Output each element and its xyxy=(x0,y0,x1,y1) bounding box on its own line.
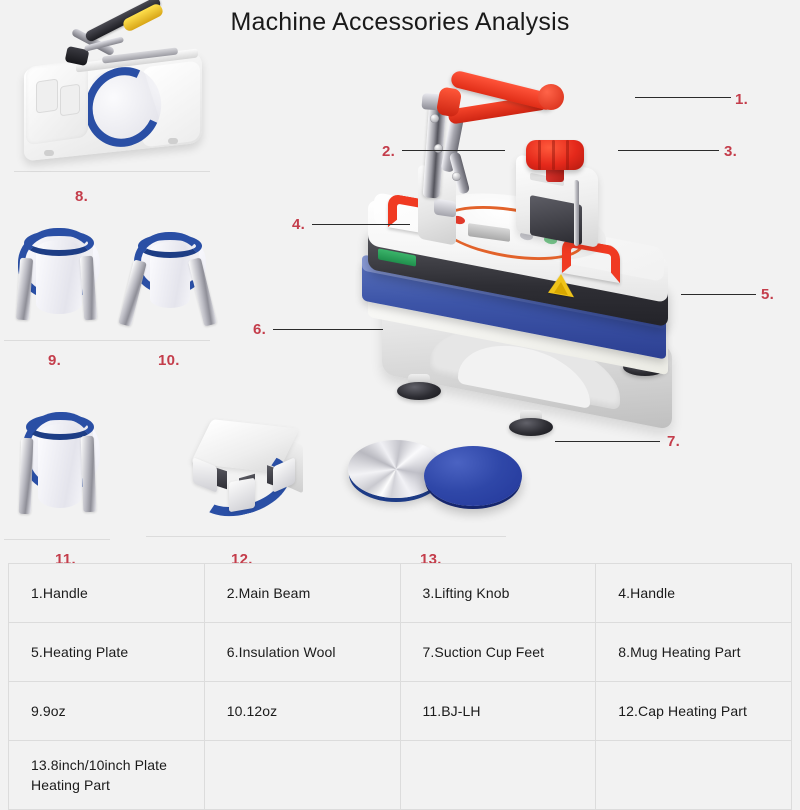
callout-label-10: 10. xyxy=(158,352,180,369)
cell-3-lifting-knob: 3.Lifting Knob xyxy=(400,564,596,623)
table-row: 5.Heating Plate 6.Insulation Wool 7.Suct… xyxy=(9,623,792,682)
callout-label-4: 4. xyxy=(292,216,305,233)
cell-1-handle: 1.Handle xyxy=(9,564,205,623)
cell-8-mug-heating-part: 8.Mug Heating Part xyxy=(596,623,792,682)
divider-cups xyxy=(4,340,210,341)
mug-press-slot-b xyxy=(60,84,80,117)
cell-7-suction-cup-feet: 7.Suction Cup Feet xyxy=(400,623,596,682)
divider-cup11 xyxy=(4,539,110,540)
cup9-lip xyxy=(24,230,94,256)
lifting-knob-ridge-a xyxy=(538,140,541,170)
mug-press-foot-left xyxy=(44,150,54,156)
cell-4-handle: 4.Handle xyxy=(596,564,792,623)
figure-cap-heating-part xyxy=(185,418,325,518)
mug-press-foot-right xyxy=(168,138,178,144)
main-beam-pin-low xyxy=(452,172,461,181)
cell-2-main-beam: 2.Main Beam xyxy=(204,564,400,623)
page-root: Machine Accessories Analysis xyxy=(0,0,800,800)
lifting-knob-ridge-b xyxy=(552,140,555,170)
main-beam-pin-top xyxy=(430,114,439,123)
figure-mug-cup-bj-lh xyxy=(18,412,110,528)
cup10-lip xyxy=(138,234,202,258)
leader-line-5 xyxy=(681,294,756,295)
figure-mug-cup-9oz xyxy=(16,228,108,328)
leader-line-2 xyxy=(402,150,505,151)
lifting-knob-ridge-c xyxy=(566,140,569,170)
callout-label-9: 9. xyxy=(48,352,61,369)
cell-11-bj-lh: 11.BJ-LH xyxy=(400,682,596,741)
cup10-arm-left xyxy=(118,259,147,326)
main-beam-pin-mid xyxy=(434,144,443,153)
cell-5-heating-plate: 5.Heating Plate xyxy=(9,623,205,682)
callout-label-3: 3. xyxy=(724,143,737,160)
press-beam-foot xyxy=(434,198,456,217)
cell-empty-a xyxy=(204,741,400,810)
cell-6-insulation-wool: 6.Insulation Wool xyxy=(204,623,400,682)
cell-12-cap-heating-part: 12.Cap Heating Part xyxy=(596,682,792,741)
table-row: 13.8inch/10inch Plate Heating Part xyxy=(9,741,792,810)
leader-line-6 xyxy=(273,329,383,330)
warning-triangle-inner-icon xyxy=(554,281,568,295)
figure-heat-press-machine xyxy=(330,60,770,460)
cell-empty-b xyxy=(400,741,596,810)
cell-empty-c xyxy=(596,741,792,810)
suction-cup-front-left xyxy=(397,382,441,400)
press-column-rod xyxy=(574,180,579,246)
callout-label-7: 7. xyxy=(667,433,680,450)
cup11-arm-left xyxy=(19,438,34,514)
lifting-knob[interactable] xyxy=(526,140,584,170)
callout-label-5: 5. xyxy=(761,286,774,303)
cup11-arm-right xyxy=(81,436,97,512)
leader-line-1 xyxy=(635,97,731,98)
leader-line-7 xyxy=(555,441,660,442)
cell-13-plate-heating-part: 13.8inch/10inch Plate Heating Part xyxy=(9,741,205,810)
callout-label-6: 6. xyxy=(253,321,266,338)
cell-10-12oz: 10.12oz xyxy=(204,682,400,741)
cap-wedge-mid xyxy=(229,478,255,513)
figure-mug-heating-part xyxy=(18,8,218,163)
figure-mug-cup-12oz xyxy=(128,232,220,332)
callout-label-8: 8. xyxy=(75,188,88,205)
leader-line-4 xyxy=(312,224,410,225)
accessories-legend-table: 1.Handle 2.Main Beam 3.Lifting Knob 4.Ha… xyxy=(8,563,792,810)
callout-label-1: 1. xyxy=(735,91,748,108)
divider-mugpress xyxy=(14,171,210,172)
cell-9-9oz: 9.9oz xyxy=(9,682,205,741)
callout-label-2: 2. xyxy=(382,143,395,160)
table-row: 9.9oz 10.12oz 11.BJ-LH 12.Cap Heating Pa… xyxy=(9,682,792,741)
divider-cap-plate xyxy=(146,536,506,537)
table-row: 1.Handle 2.Main Beam 3.Lifting Knob 4.Ha… xyxy=(9,564,792,623)
mug-press-slot-a xyxy=(36,78,58,113)
leader-line-3 xyxy=(618,150,719,151)
press-top-handle-tip xyxy=(538,84,564,110)
cup10-arm-right xyxy=(188,257,217,326)
suction-cup-front-right xyxy=(509,418,553,436)
